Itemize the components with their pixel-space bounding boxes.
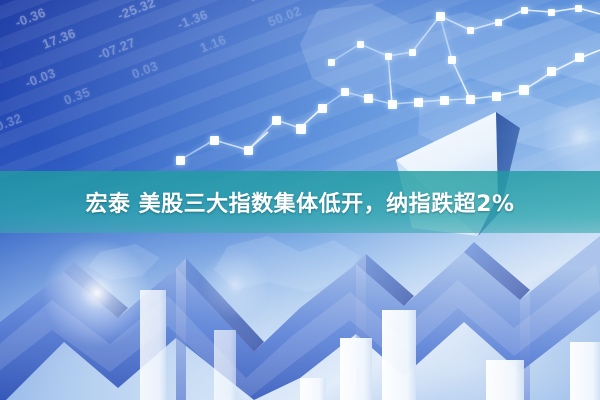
light-burst xyxy=(42,238,152,348)
ticker-number: -1.36 xyxy=(175,6,210,31)
ticker-number: 0.35 xyxy=(61,84,91,108)
headline-text: 宏泰 美股三大指数集体低开，纳指跌超2% xyxy=(0,171,600,233)
ticker-number: 1.16 xyxy=(198,31,228,55)
ticker-number: -0.03 xyxy=(23,65,58,90)
ticker-number: 50.02 xyxy=(266,3,304,29)
ticker-number: 0.03 xyxy=(130,58,160,82)
ticker-number: -0.36 xyxy=(13,4,48,29)
light-burst-secondary xyxy=(200,250,270,320)
news-banner-image: -0.751.25-0.36-11.2545.0221.05-1.254.25-… xyxy=(0,0,600,400)
ticker-number: 0.32 xyxy=(0,110,24,134)
ticker-number: 0.35 xyxy=(0,54,2,78)
ticker-number: 17.36 xyxy=(40,25,78,51)
